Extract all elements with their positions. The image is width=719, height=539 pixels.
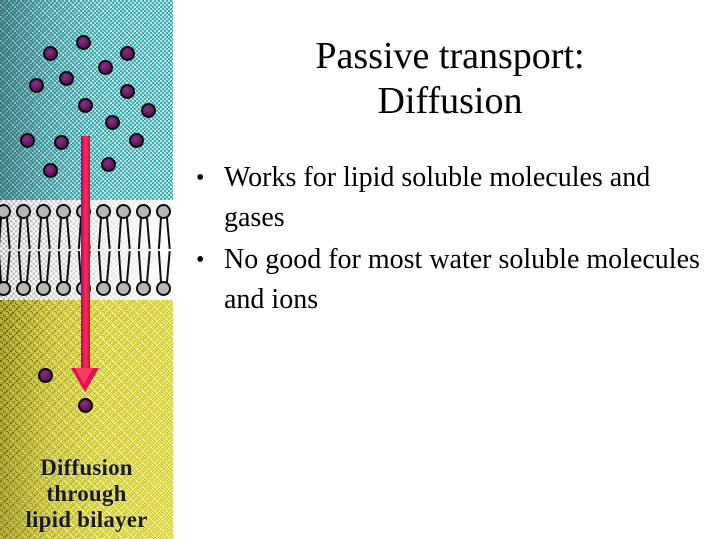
lipid-tail	[118, 251, 122, 282]
molecule-extracellular	[101, 157, 116, 172]
diffusion-arrow-head-highlight	[75, 368, 93, 384]
phospholipid-inner	[116, 250, 135, 296]
molecule-extracellular	[20, 133, 35, 148]
lipid-tail	[46, 218, 51, 249]
lipid-tail	[46, 251, 51, 282]
molecule-extracellular	[59, 71, 74, 86]
lipid-head	[56, 204, 71, 219]
lipid-head	[136, 204, 151, 219]
lipid-tail	[146, 218, 151, 249]
lipid-tail	[166, 218, 171, 249]
lipid-tail	[38, 251, 42, 282]
caption-line-3: lipid bilayer	[0, 507, 173, 533]
phospholipid-outer	[116, 204, 135, 250]
bullet-text: Works for lipid soluble molecules and ga…	[224, 158, 701, 238]
lipid-tail	[98, 251, 102, 282]
lipid-tail	[158, 251, 162, 282]
lipid-tail	[98, 218, 102, 249]
list-item: •Works for lipid soluble molecules and g…	[196, 158, 701, 238]
lipid-tail	[118, 218, 122, 249]
title-line-1: Passive transport:	[190, 34, 710, 79]
lipid-head	[156, 204, 171, 219]
lipid-tail	[66, 218, 71, 249]
phospholipid-outer	[16, 204, 35, 250]
phospholipid-inner	[56, 250, 75, 296]
lipid-tail	[26, 218, 31, 249]
molecule-cytoplasm	[38, 368, 53, 383]
lipid-tail	[138, 251, 142, 282]
lipid-tail	[66, 251, 71, 282]
lipid-tail	[6, 218, 11, 249]
lipid-tail	[58, 218, 62, 249]
lipid-tail	[0, 251, 2, 282]
lipid-head	[0, 204, 11, 219]
slide-title: Passive transport: Diffusion	[190, 34, 710, 124]
lipid-tail	[58, 251, 62, 282]
lipid-head	[116, 204, 131, 219]
molecule-extracellular	[98, 60, 113, 75]
molecule-extracellular	[141, 103, 156, 118]
phospholipid-outer	[96, 204, 115, 250]
lipid-head	[116, 281, 131, 296]
molecule-extracellular	[120, 46, 135, 61]
molecule-extracellular	[76, 35, 91, 50]
phospholipid-inner	[36, 250, 55, 296]
phospholipid-outer	[136, 204, 155, 250]
lipid-head	[96, 281, 111, 296]
phospholipid-inner	[156, 250, 173, 296]
lipid-tail	[18, 218, 22, 249]
diffusion-diagram: Diffusion through lipid bilayer	[0, 0, 173, 539]
lipid-head	[0, 281, 11, 296]
phospholipid-inner	[96, 250, 115, 296]
list-item: •No good for most water soluble molecule…	[196, 240, 701, 320]
lipid-head	[36, 281, 51, 296]
caption-line-2: through	[0, 481, 173, 507]
lipid-tail	[126, 218, 131, 249]
phospholipid-inner	[16, 250, 35, 296]
bullet-marker-icon: •	[196, 240, 224, 280]
lipid-tail	[6, 251, 11, 282]
lipid-head	[136, 281, 151, 296]
lipid-head	[56, 281, 71, 296]
molecule-cytoplasm	[78, 398, 93, 413]
lipid-tail	[166, 251, 171, 282]
molecule-extracellular	[78, 98, 93, 113]
lipid-tail	[0, 218, 2, 249]
lipid-tail	[18, 251, 22, 282]
lipid-tail	[158, 218, 162, 249]
phospholipid-outer	[36, 204, 55, 250]
molecule-extracellular	[105, 115, 120, 130]
lipid-tail	[146, 251, 151, 282]
molecule-extracellular	[29, 78, 44, 93]
molecule-extracellular	[54, 135, 69, 150]
phospholipid-outer	[56, 204, 75, 250]
lipid-head	[156, 281, 171, 296]
lipid-head	[16, 204, 31, 219]
lipid-tail	[38, 218, 42, 249]
phospholipid-outer	[156, 204, 173, 250]
molecule-extracellular	[129, 133, 144, 148]
diagram-caption: Diffusion through lipid bilayer	[0, 455, 173, 533]
bullet-text: No good for most water soluble molecules…	[224, 240, 701, 320]
lipid-tail	[106, 251, 111, 282]
phospholipid-outer	[0, 204, 15, 250]
lipid-head	[16, 281, 31, 296]
lipid-tail	[26, 251, 31, 282]
phospholipid-inner	[0, 250, 15, 296]
molecule-extracellular	[120, 84, 135, 99]
lipid-head	[96, 204, 111, 219]
lipid-tail	[138, 218, 142, 249]
lipid-head	[36, 204, 51, 219]
bullet-list: •Works for lipid soluble molecules and g…	[196, 158, 701, 322]
title-line-2: Diffusion	[190, 79, 710, 124]
molecule-extracellular	[43, 46, 58, 61]
phospholipid-inner	[136, 250, 155, 296]
lipid-tail	[126, 251, 131, 282]
bullet-marker-icon: •	[196, 158, 224, 198]
molecule-extracellular	[43, 163, 58, 178]
caption-line-1: Diffusion	[0, 455, 173, 481]
diffusion-arrow-shaft	[81, 136, 90, 372]
lipid-tail	[106, 218, 111, 249]
slide-canvas: Diffusion through lipid bilayer Passive …	[0, 0, 719, 539]
